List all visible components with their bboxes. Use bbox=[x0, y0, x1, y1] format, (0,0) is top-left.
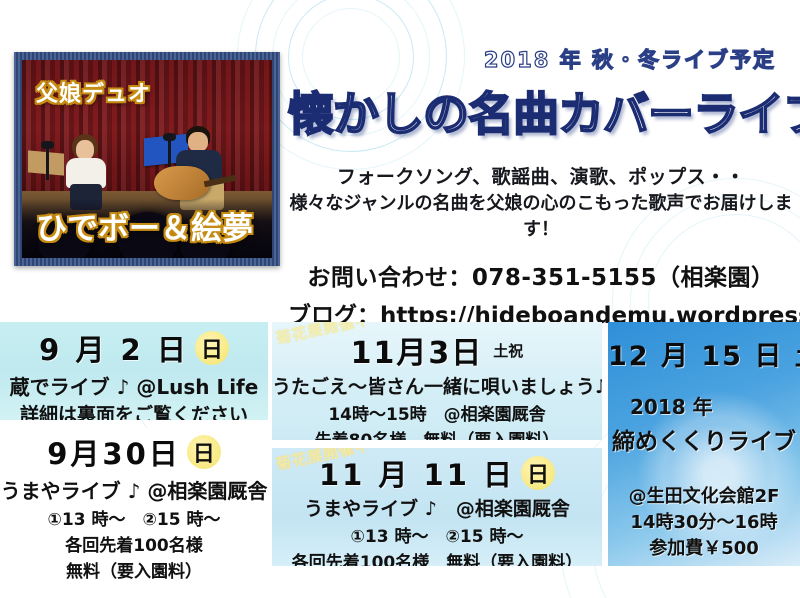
photo-caption-bottom: ひでボー＆絵夢 bbox=[36, 203, 253, 248]
performer-daughter bbox=[62, 134, 112, 208]
poster-title: 懐かしの名曲カバーライブ♪ bbox=[288, 78, 794, 144]
event-date: 9月30日 bbox=[47, 431, 181, 473]
headline-area: 2018 年 秋・冬ライブ予定 懐かしの名曲カバーライブ♪ フォークソング、歌謡… bbox=[288, 0, 794, 330]
sunday-badge: 日 bbox=[195, 331, 229, 365]
schedule-column-right: 12 月 15 日 土 2018 年 締めくくりライブ @生田文化会館2F 14… bbox=[608, 322, 800, 566]
event-detail-line: 無料（要入園料） bbox=[0, 557, 268, 582]
event-date: 12 月 15 日 土 bbox=[608, 322, 800, 373]
event-detail-line: うたごえ～皆さん一緒に唄いましょう♪ bbox=[272, 372, 602, 399]
event-detail-line: 14時30分～16時 bbox=[608, 508, 800, 534]
event-card-sep-30[interactable]: 9月30日 日 うまやライブ ♪ @相楽園厩舎 ①13 時～ ②15 時～ 各回… bbox=[0, 428, 268, 598]
band-photo-card: 父娘デュオ ひでボー＆絵夢 bbox=[14, 52, 280, 266]
season-subtitle: 2018 年 秋・冬ライブ予定 bbox=[288, 0, 794, 74]
event-day-of-week: 土祝 bbox=[493, 340, 523, 361]
schedule-column-left: 9 月 2 日 日 蔵でライブ ♪ @Lush Life 詳細は裏面をご覧くださ… bbox=[0, 322, 268, 598]
event-detail-line: ①13 時～ ②15 時～ bbox=[0, 505, 268, 530]
event-card-dec-15[interactable]: 12 月 15 日 土 2018 年 締めくくりライブ @生田文化会館2F 14… bbox=[608, 322, 800, 566]
microphone-left bbox=[46, 146, 49, 180]
event-detail-line: うまやライブ ♪ @相楽園厩舎 bbox=[272, 494, 602, 521]
event-detail-line: 各回先着100名様 bbox=[0, 531, 268, 556]
spacer bbox=[608, 456, 800, 482]
microphone-right bbox=[168, 138, 171, 168]
event-detail-line: ①13 時～ ②15 時～ bbox=[272, 522, 602, 547]
sunday-badge: 日 bbox=[521, 456, 555, 490]
event-year: 2018 年 bbox=[608, 391, 800, 420]
event-detail-line: 各回先着100名様 無料（要入園料） bbox=[272, 548, 602, 566]
event-card-sep-02[interactable]: 9 月 2 日 日 蔵でライブ ♪ @Lush Life 詳細は裏面をご覧くださ… bbox=[0, 322, 268, 420]
description: フォークソング、歌謡曲、演歌、ポップス・・ 様々なジャンルの名曲を父娘の心のこも… bbox=[288, 164, 794, 242]
event-card-nov-11[interactable]: 菊花展開催中 11 月 11 日 日 うまやライブ ♪ @相楽園厩舎 ①13 時… bbox=[272, 448, 602, 566]
event-name: 締めくくりライブ bbox=[608, 422, 800, 456]
event-detail-line: 参加費￥500 bbox=[608, 534, 800, 560]
schedule-area: 9 月 2 日 日 蔵でライブ ♪ @Lush Life 詳細は裏面をご覧くださ… bbox=[0, 322, 800, 598]
contact-phone: お問い合わせ：078-351-5155（相楽園） bbox=[288, 258, 794, 292]
description-line-1: フォークソング、歌謡曲、演歌、ポップス・・ bbox=[288, 164, 794, 191]
schedule-column-middle: 菊花展開催中 11月3日 土祝 うたごえ～皆さん一緒に唄いましょう♪ 14時～1… bbox=[272, 322, 602, 566]
event-date-row: 9月30日 日 bbox=[0, 431, 268, 473]
description-line-2: 様々なジャンルの名曲を父娘の心のこもった歌声でお届けします！ bbox=[288, 191, 794, 242]
event-detail-line: うまやライブ ♪ @相楽園厩舎 bbox=[0, 475, 268, 504]
event-detail-line: 蔵でライブ ♪ @Lush Life bbox=[0, 371, 268, 400]
event-detail-line: @生田文化会館2F bbox=[608, 482, 800, 508]
event-detail-line: 詳細は裏面をご覧ください bbox=[0, 400, 268, 420]
band-photo: 父娘デュオ ひでボー＆絵夢 bbox=[22, 60, 272, 258]
event-card-nov-03[interactable]: 菊花展開催中 11月3日 土祝 うたごえ～皆さん一緒に唄いましょう♪ 14時～1… bbox=[272, 322, 602, 440]
event-date: 11月3日 bbox=[351, 328, 484, 372]
guitar-icon bbox=[154, 166, 210, 200]
poster-header-area: 父娘デュオ ひでボー＆絵夢 2018 年 秋・冬ライブ予定 懐かしの名曲カバーラ… bbox=[0, 0, 800, 318]
event-date-row: 9 月 2 日 日 bbox=[0, 327, 268, 369]
event-date: 9 月 2 日 bbox=[39, 327, 189, 369]
photo-caption-top: 父娘デュオ bbox=[36, 76, 151, 108]
event-detail-line: 14時～15時 @相楽園厩舎 bbox=[272, 400, 602, 425]
event-detail-line: 先着80名様 無料（要入園料） bbox=[272, 426, 602, 440]
sunday-badge: 日 bbox=[187, 435, 221, 469]
